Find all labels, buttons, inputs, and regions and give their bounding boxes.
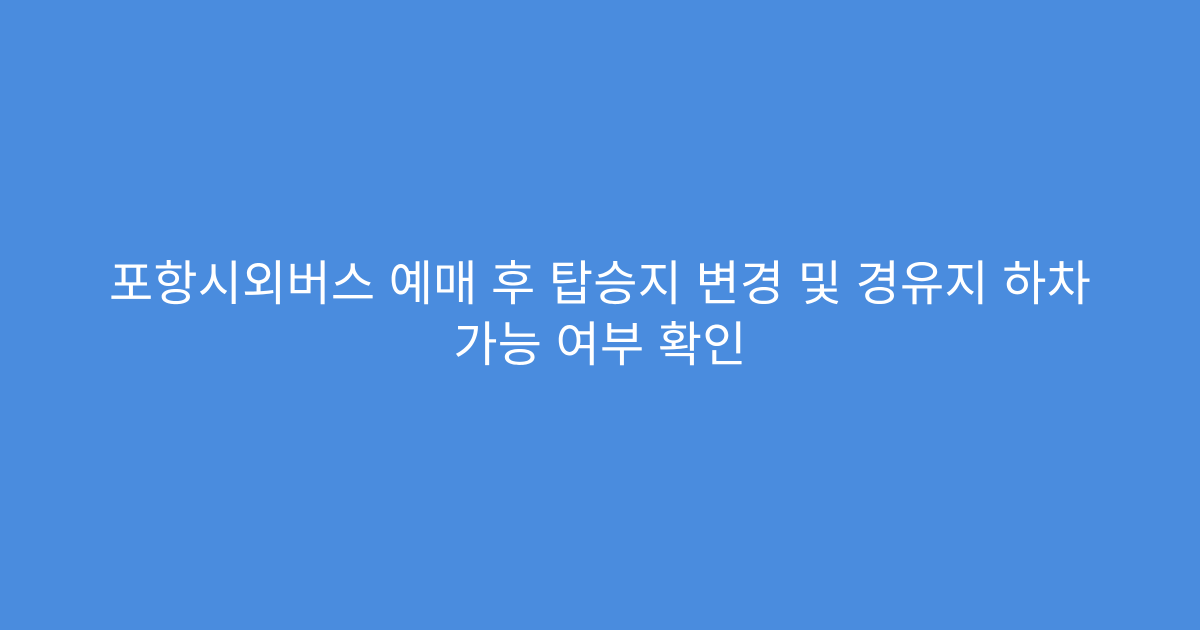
page-title: 포항시외버스 예매 후 탑승지 변경 및 경유지 하차 가능 여부 확인 [70,254,1130,376]
headline-block: 포항시외버스 예매 후 탑승지 변경 및 경유지 하차 가능 여부 확인 [70,254,1130,376]
share-card-canvas: 포항시외버스 예매 후 탑승지 변경 및 경유지 하차 가능 여부 확인 [0,0,1200,630]
